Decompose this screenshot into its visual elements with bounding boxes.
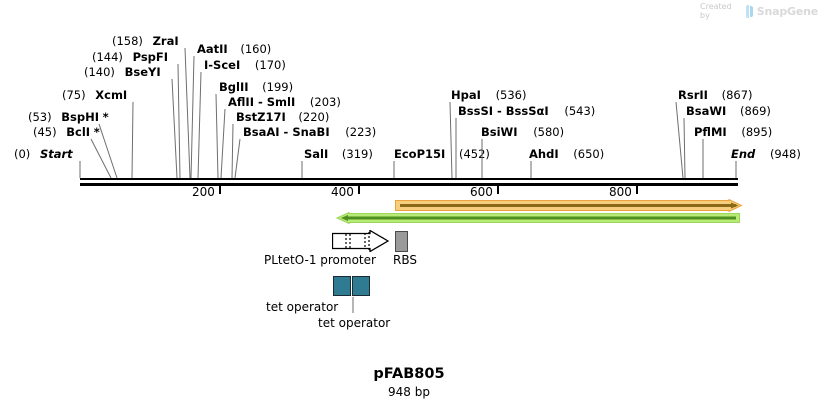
tet-operator-label-2: tet operator bbox=[318, 316, 390, 330]
plasmid-length: 948 bp bbox=[0, 385, 818, 399]
operator-leader-line bbox=[0, 0, 818, 330]
snapgene-linear-map: Created by SnapGene (0) Start (45) BclI … bbox=[0, 0, 818, 405]
tet-operator-label-1: tet operator bbox=[266, 300, 338, 314]
plasmid-title: pFAB805 bbox=[0, 366, 818, 382]
